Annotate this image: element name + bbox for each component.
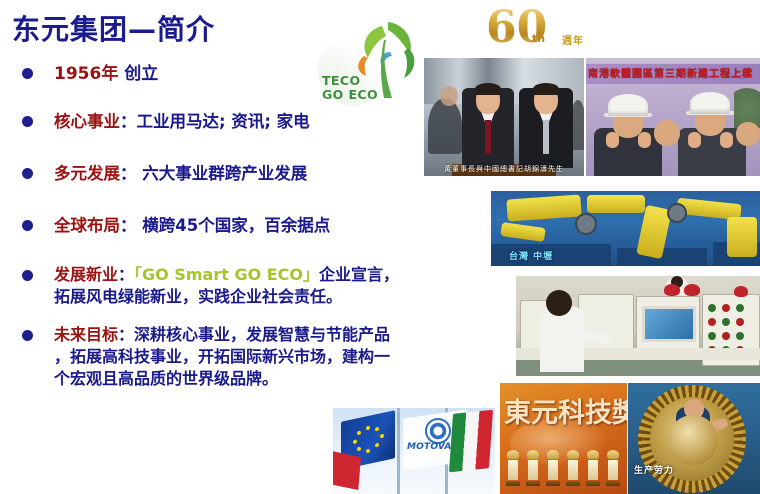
trophy-icon	[566, 450, 580, 486]
bullet-rest: ： 六大事业群跨产业发展	[120, 164, 307, 183]
hard-hat-icon	[608, 94, 648, 116]
list-item: 发展新业：「GO Smart GO ECO」企业宣言，拓展风电绿能新业，实践企业…	[14, 264, 454, 320]
photo-chairman-and-leader: 黃董事長與中國總書記胡錦濤先生	[424, 58, 584, 176]
bullet-highlight: 全球布局	[54, 216, 120, 235]
trophy-icon	[506, 450, 520, 486]
hand-shape	[638, 132, 651, 148]
teco-go-eco-logo: TECO GO ECO	[322, 16, 422, 114]
list-item: 全球布局： 横跨45个国家，百余据点	[14, 214, 454, 260]
robot-joint	[667, 203, 687, 223]
background-face	[654, 120, 680, 146]
teco-logo-line1: TECO	[322, 74, 378, 88]
photo-caption: 生产劳力	[630, 463, 760, 476]
bullet-dot-icon	[22, 270, 33, 281]
foreground-worker	[540, 306, 584, 372]
bullet-text-diversify: 多元发展： 六大事业群跨产业发展	[54, 162, 454, 185]
motovario-logo-icon	[425, 418, 451, 444]
slide-root: 东元集团—简介 1956年 创立 核心事业：工业用马达; 资讯; 家电 多元发展…	[0, 0, 760, 494]
trophy-icon	[546, 450, 560, 486]
bullet-dot-icon	[22, 168, 33, 179]
hand-shape	[606, 132, 619, 148]
bullet-text-newbiz: 发展新业：「GO Smart GO ECO」企业宣言，拓展风电绿能新业，实践企业…	[54, 264, 474, 308]
bullet-eco-slogan: 「GO Smart GO ECO」	[134, 265, 319, 284]
bullet-rest: ： 横跨45个国家，百余据点	[120, 216, 330, 235]
bullet-highlight: 1956年	[54, 64, 118, 84]
italy-flag	[449, 410, 493, 473]
bullet-rest: ：工业用马达; 资讯; 家电	[120, 112, 310, 131]
page-title: 东元集团—简介	[12, 8, 215, 48]
hard-hat-icon	[690, 92, 730, 114]
bullet-highlight: 未来目标	[54, 325, 118, 344]
photo-motor-test-control-room	[516, 276, 760, 376]
banner-text: 南港軟體園區第三期新建工程上樑	[588, 65, 758, 83]
bullet-after-eco: 企业宣言，	[319, 265, 399, 284]
eu-stars	[353, 423, 383, 457]
photo-caption: 台灣 中壢	[491, 249, 760, 262]
photo-caption: 黃董事長與中國總書記胡錦濤先生	[424, 164, 584, 174]
knob-array	[706, 302, 754, 354]
hand-shape	[720, 132, 733, 148]
flag-pole	[397, 408, 400, 494]
bullet-line2: ，拓展高科技事业，开拓国际新兴市场，建构一	[54, 347, 390, 366]
bullet-rest: ：深耕核心事业，发展智慧与节能产品	[118, 325, 390, 344]
robot-arm-segment	[587, 195, 645, 213]
svg-text:th: th	[532, 32, 545, 45]
photo-groundbreaking-ceremony: 南港軟體園區第三期新建工程上樑	[586, 58, 760, 176]
photo-international-flags-motovario: MOTOVARIO	[333, 408, 495, 494]
background-face	[736, 122, 760, 146]
trophy-icon	[586, 450, 600, 486]
list-item: 多元发展： 六大事业群跨产业发展	[14, 162, 454, 210]
robot-joint	[575, 213, 597, 235]
teco-logo-text: TECO GO ECO	[322, 74, 378, 102]
person-hair	[475, 83, 501, 95]
indicator-lamp	[734, 286, 748, 297]
bullet-dot-icon	[22, 116, 33, 127]
photo-teco-technology-award-poster: 東元科技獎	[500, 383, 627, 494]
background-figure	[428, 98, 462, 154]
indicator-lamp	[664, 284, 680, 296]
anniversary-label: 週年	[562, 32, 584, 47]
anniversary-badge: 60 th 週年	[466, 2, 586, 50]
list-item: 未来目标：深耕核心事业，发展智慧与节能产品，拓展高科技事业，开拓国际新兴市场，建…	[14, 324, 454, 404]
indicator-lamp	[684, 284, 700, 296]
bullet-rest: 创立	[118, 64, 158, 84]
necktie-shape	[543, 120, 549, 154]
list-item: 核心事业：工业用马达; 资讯; 家电	[14, 110, 454, 158]
photo-generator-rotor-assembly: 生产劳力	[628, 383, 760, 494]
bullet-text-future: 未来目标：深耕核心事业，发展智慧与节能产品，拓展高科技事业，开拓国际新兴市场，建…	[54, 324, 474, 390]
bullet-rest: ：	[118, 265, 134, 284]
photo-robotic-automation-line: 台灣 中壢	[491, 191, 760, 266]
robot-arm-segment	[500, 222, 546, 242]
bullet-dot-icon	[22, 220, 33, 231]
bullet-highlight: 核心事业	[54, 112, 120, 131]
trophy-row	[504, 448, 623, 486]
rotor-core	[668, 415, 718, 465]
foreground-worker-head	[546, 290, 572, 316]
bullet-highlight: 发展新业	[54, 265, 118, 284]
trophy-icon	[606, 450, 620, 486]
hand-shape	[688, 132, 701, 148]
background-figure	[440, 86, 458, 106]
bullet-text-global: 全球布局： 横跨45个国家，百余据点	[54, 214, 454, 237]
teco-logo-line2: GO ECO	[322, 88, 378, 102]
award-title-text: 東元科技獎	[504, 391, 625, 430]
robot-arm-segment	[506, 194, 581, 221]
bullet-line2: 拓展风电绿能新业，实践企业社会责任。	[54, 287, 342, 306]
monitor-screen	[642, 306, 696, 342]
person-hair	[533, 83, 559, 95]
bullet-dot-icon	[22, 68, 33, 79]
bullet-dot-icon	[22, 330, 33, 341]
bullet-line3: 个宏观且高品质的世界级品牌。	[54, 369, 278, 388]
trophy-icon	[526, 450, 540, 486]
necktie-shape	[485, 120, 491, 154]
bullet-highlight: 多元发展	[54, 164, 120, 183]
